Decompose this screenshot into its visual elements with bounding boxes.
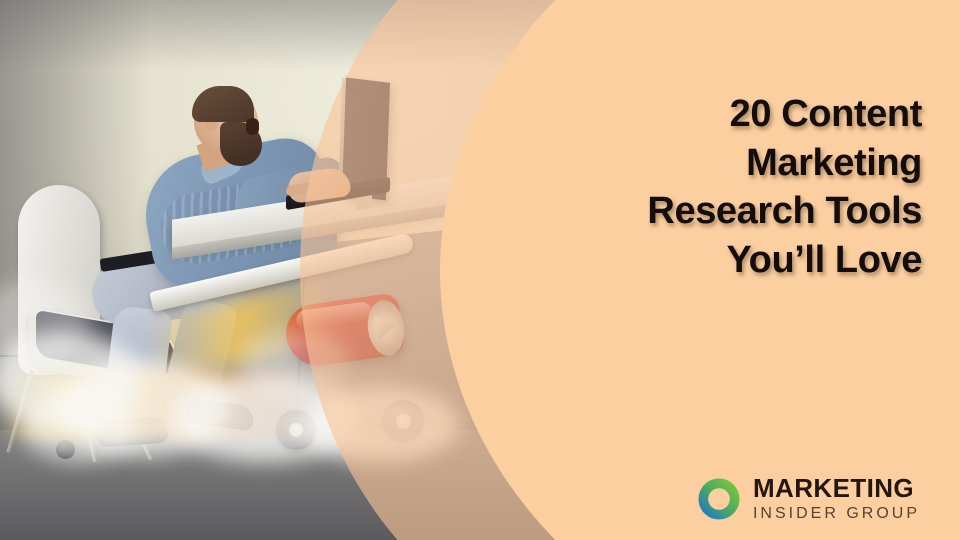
smoke-puff <box>20 392 140 462</box>
brand-tagline: INSIDER GROUP <box>753 506 920 522</box>
brand-logo[interactable]: MARKETING INSIDER GROUP <box>696 475 920 522</box>
ring-donut-icon <box>696 476 742 522</box>
headline-line-1: 20 Content <box>462 90 922 139</box>
page-title: 20 Content Marketing Research Tools You’… <box>462 90 922 285</box>
headline-line-4: You’ll Love <box>462 236 922 285</box>
banner-graphic: 20 Content Marketing Research Tools You’… <box>0 0 960 540</box>
headline-line-3: Research Tools <box>462 187 922 236</box>
brand-logo-text: MARKETING INSIDER GROUP <box>753 475 920 522</box>
headline-line-2: Marketing <box>462 139 922 188</box>
brand-name: MARKETING <box>753 475 920 501</box>
man-open-mouth <box>246 118 259 135</box>
man-hair <box>192 86 254 122</box>
